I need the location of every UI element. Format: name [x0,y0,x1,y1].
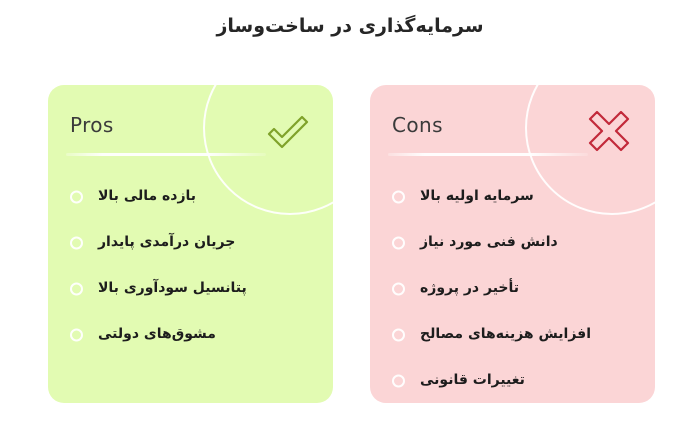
list-item-label: جریان درآمدی پایدار [98,234,235,250]
list-item-label: تغییرات قانونی [420,372,525,388]
list-item: سرمایه اولیه بالا [384,173,641,219]
pros-card: Pros بازده مالی بالا جریان درآمدی پایدار… [48,85,333,403]
list-item-label: افزایش هزینه‌های مصالح [420,326,591,342]
list-item: تغییرات قانونی [384,357,641,403]
list-item-label: تأخیر در پروژه [420,280,519,296]
list-item-label: پتانسیل سودآوری بالا [98,280,247,296]
cons-card: Cons سرمایه اولیه بالا دانش فنی مورد نیا… [370,85,655,403]
bullet-circle-icon [392,375,405,388]
list-item-label: مشوق‌های دولتی [98,326,216,342]
cons-divider [388,153,588,156]
list-item: دانش فنی مورد نیاز [384,219,641,265]
list-item-label: بازده مالی بالا [98,188,196,204]
pros-cons-infographic: سرمایه‌گذاری در ساخت‌وساز Pros بازده مال… [0,0,700,427]
list-item: جریان درآمدی پایدار [62,219,319,265]
list-item: بازده مالی بالا [62,173,319,219]
list-item: پتانسیل سودآوری بالا [62,265,319,311]
list-item: تأخیر در پروژه [384,265,641,311]
pros-divider [66,153,266,156]
bullet-circle-icon [392,329,405,342]
list-item: افزایش هزینه‌های مصالح [384,311,641,357]
bullet-circle-icon [70,237,83,250]
bullet-circle-icon [392,191,405,204]
page-title: سرمایه‌گذاری در ساخت‌وساز [0,12,700,40]
bullet-circle-icon [70,329,83,342]
list-item-label: دانش فنی مورد نیاز [420,234,558,250]
pros-heading: Pros [70,113,114,137]
pros-list: بازده مالی بالا جریان درآمدی پایدار پتان… [62,173,319,357]
bullet-circle-icon [70,283,83,296]
cons-list: سرمایه اولیه بالا دانش فنی مورد نیاز تأخ… [384,173,641,403]
cross-mark-icon [581,103,637,159]
check-mark-icon [259,103,315,159]
cards-row: Pros بازده مالی بالا جریان درآمدی پایدار… [0,85,700,405]
bullet-circle-icon [70,191,83,204]
list-item: مشوق‌های دولتی [62,311,319,357]
bullet-circle-icon [392,283,405,296]
cons-heading: Cons [392,113,443,137]
list-item-label: سرمایه اولیه بالا [420,188,534,204]
bullet-circle-icon [392,237,405,250]
